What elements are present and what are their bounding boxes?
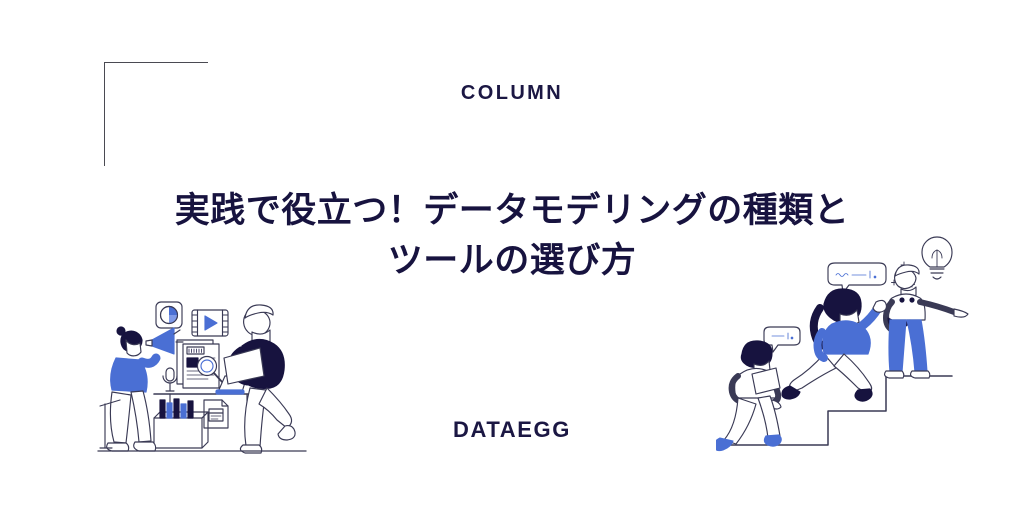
column-hero-banner: COLUMN 実践で役立つ！データモデリングの種類と ツールの選び方 DATAE… xyxy=(0,0,1024,512)
man-pointing-top-step xyxy=(885,265,968,378)
career-growth-stairs-illustration xyxy=(716,236,978,456)
corner-bracket-decoration xyxy=(104,62,208,166)
eyebrow-label: COLUMN xyxy=(0,82,1024,105)
video-player-icon xyxy=(192,310,228,336)
woman-running-middle-step xyxy=(782,289,886,401)
page-title-line-1: 実践で役立つ！データモデリングの種類と xyxy=(112,186,912,236)
content-creation-team-illustration xyxy=(92,288,320,456)
man-with-tablet xyxy=(224,305,295,453)
speech-bubble-large xyxy=(828,263,886,293)
desk-microphone xyxy=(163,368,177,391)
person-climbing-lower-step xyxy=(716,341,781,451)
book-box xyxy=(154,399,208,448)
pie-chart-icon xyxy=(156,302,182,328)
